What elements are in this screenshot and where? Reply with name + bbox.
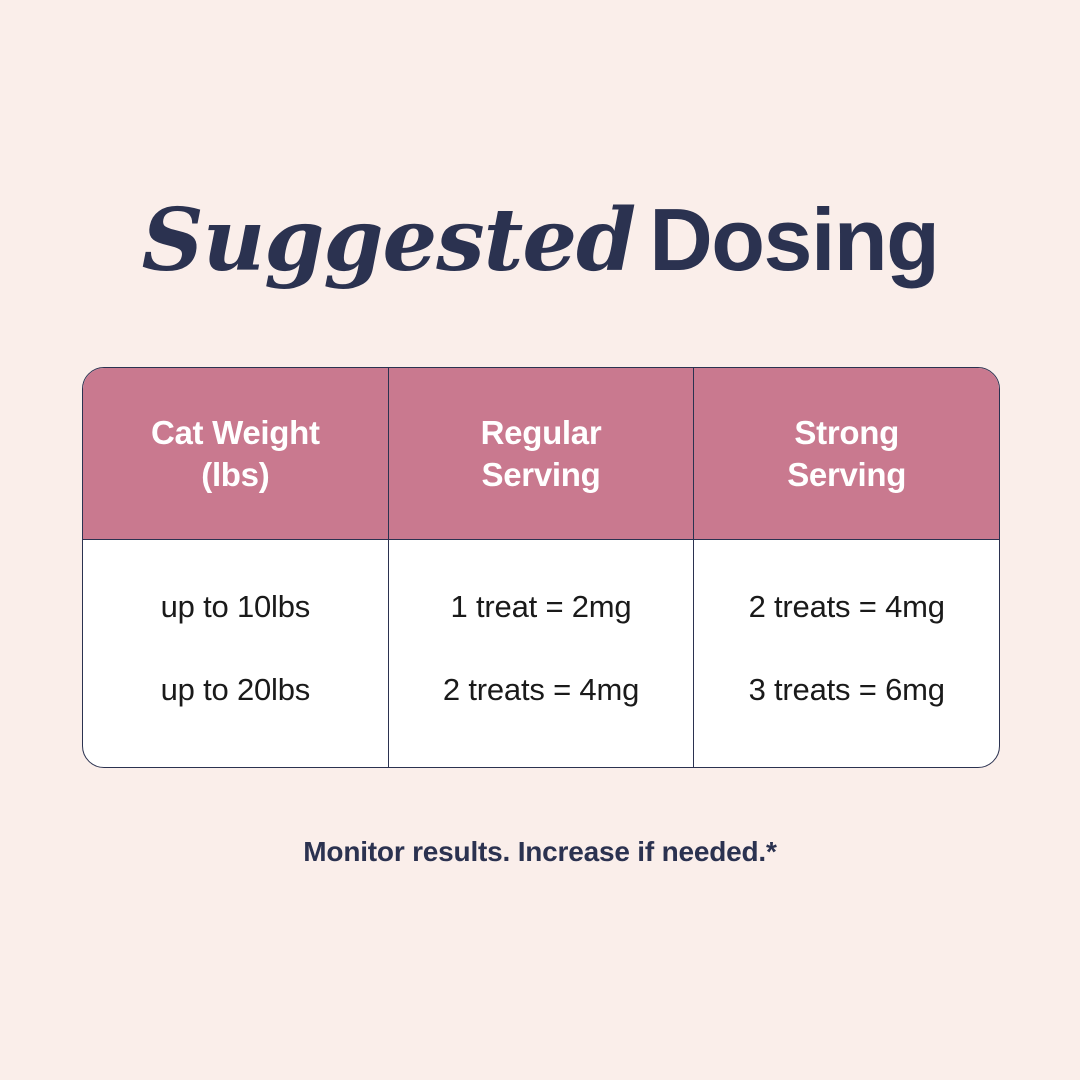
dosing-table: Cat Weight (lbs) Regular Serving Strong … xyxy=(82,367,1000,768)
column-header-cat-weight: Cat Weight (lbs) xyxy=(83,368,388,539)
table-column-cat-weight: up to 10lbs up to 20lbs xyxy=(83,540,388,767)
footer-note: Monitor results. Increase if needed.* xyxy=(0,836,1080,868)
table-column-regular-serving: 1 treat = 2mg 2 treats = 4mg xyxy=(388,540,694,767)
table-column-strong-serving: 2 treats = 4mg 3 treats = 6mg xyxy=(693,540,999,767)
column-header-strong-serving-line2: Serving xyxy=(787,456,906,493)
cell-regular-row1: 1 treat = 2mg xyxy=(451,565,632,648)
cell-weight-row1: up to 10lbs xyxy=(161,565,310,648)
column-header-regular-serving-line1: Regular xyxy=(481,414,602,451)
dosing-card: SuggestedDosing Cat Weight (lbs) Regular… xyxy=(0,0,1080,1080)
table-body: up to 10lbs up to 20lbs 1 treat = 2mg 2 … xyxy=(83,540,999,767)
column-header-cat-weight-line2: (lbs) xyxy=(201,456,269,493)
column-header-regular-serving-line2: Serving xyxy=(482,456,601,493)
page-title-plain-word: Dosing xyxy=(649,190,938,289)
page-title-script-word: Suggested xyxy=(142,190,636,291)
cell-weight-row2: up to 20lbs xyxy=(161,648,310,731)
table-header-row: Cat Weight (lbs) Regular Serving Strong … xyxy=(83,368,999,540)
page-title: SuggestedDosing xyxy=(0,196,1080,284)
cell-regular-row2: 2 treats = 4mg xyxy=(443,648,639,731)
cell-strong-row2: 3 treats = 6mg xyxy=(749,648,945,731)
column-header-regular-serving: Regular Serving xyxy=(388,368,694,539)
column-header-strong-serving-line1: Strong xyxy=(794,414,899,451)
column-header-cat-weight-line1: Cat Weight xyxy=(151,414,320,451)
column-header-strong-serving: Strong Serving xyxy=(693,368,999,539)
cell-strong-row1: 2 treats = 4mg xyxy=(749,565,945,648)
